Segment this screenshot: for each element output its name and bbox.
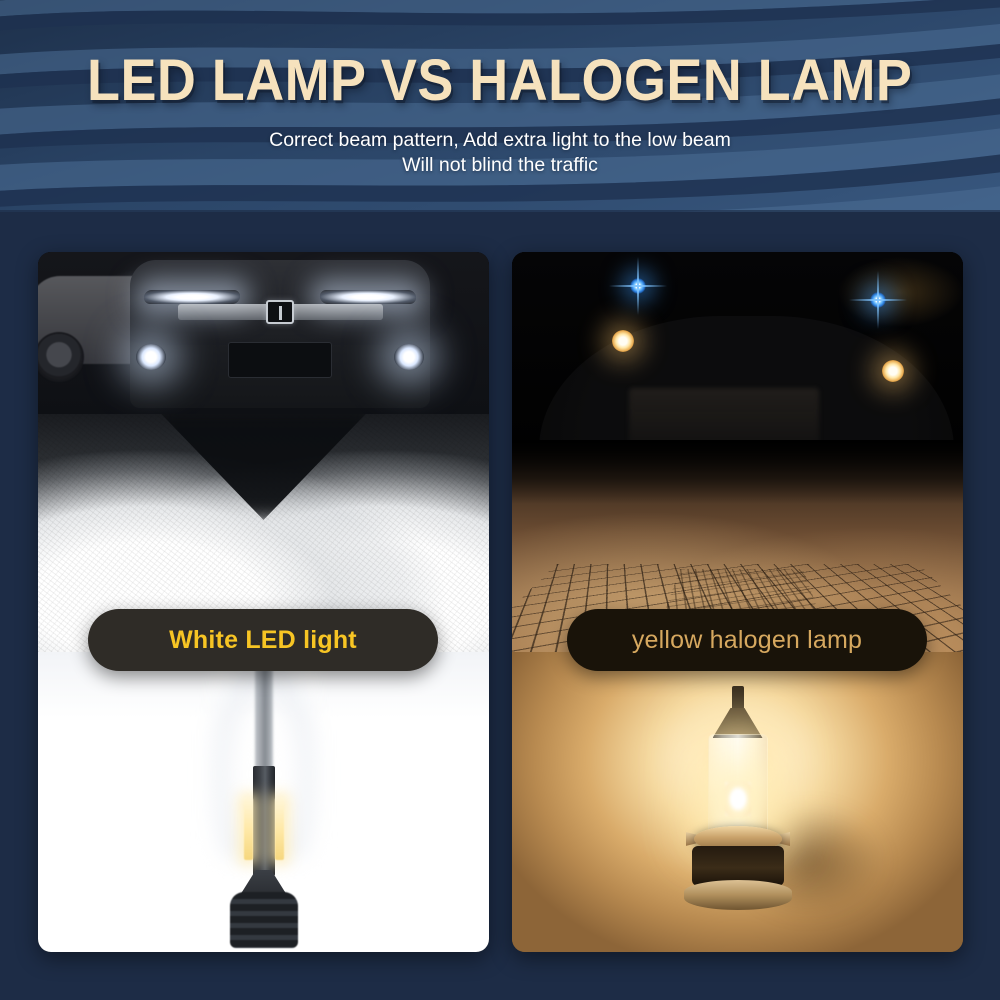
label-white-led-light: White LED light xyxy=(88,609,438,671)
subtitle-block: Correct beam pattern, Add extra light to… xyxy=(269,128,731,178)
honda-civic-front xyxy=(130,260,430,408)
comparison-panels: White LED light xyxy=(0,212,1000,1000)
halogen-bulb-flange xyxy=(684,880,792,910)
header-banner: LED LAMP VS HALOGEN LAMP Correct beam pa… xyxy=(0,0,1000,212)
led-bulb-product-photo xyxy=(38,652,489,952)
warm-halogen-light-right xyxy=(882,360,904,382)
halogen-bulb xyxy=(680,686,796,936)
blue-starburst-light-left xyxy=(630,278,646,294)
led-chip-right xyxy=(275,798,284,860)
panel-halogen[interactable]: yellow halogen lamp xyxy=(512,252,963,952)
led-bulb xyxy=(230,652,298,938)
led-night-car-photo xyxy=(38,252,489,652)
honda-logo-icon xyxy=(266,300,294,324)
fog-lamp-left xyxy=(136,344,166,370)
label-yellow-halogen-lamp-text: yellow halogen lamp xyxy=(632,626,862,655)
subtitle-line-2: Will not blind the traffic xyxy=(269,153,731,178)
license-plate xyxy=(228,342,332,378)
subtitle-line-1: Correct beam pattern, Add extra light to… xyxy=(269,129,731,151)
halogen-night-car-photo xyxy=(512,252,963,652)
poster-root: LED LAMP VS HALOGEN LAMP Correct beam pa… xyxy=(0,0,1000,1000)
label-white-led-light-text: White LED light xyxy=(169,626,357,655)
led-bulb-base xyxy=(230,892,298,948)
pavement-top-shadow xyxy=(512,440,963,504)
warm-halogen-light-left xyxy=(612,330,634,352)
fog-lamp-right xyxy=(394,344,424,370)
halogen-bulb-product-photo xyxy=(512,652,963,952)
led-chip-left xyxy=(244,798,253,860)
led-bulb-body xyxy=(253,766,275,876)
page-title: LED LAMP VS HALOGEN LAMP xyxy=(87,52,912,110)
label-yellow-halogen-lamp: yellow halogen lamp xyxy=(567,609,927,671)
led-headlight-left xyxy=(143,290,240,304)
halogen-filament-glow xyxy=(725,782,751,816)
led-headlight-right xyxy=(319,290,416,304)
panel-led[interactable]: White LED light xyxy=(38,252,489,952)
blue-starburst-light-right xyxy=(870,292,886,308)
